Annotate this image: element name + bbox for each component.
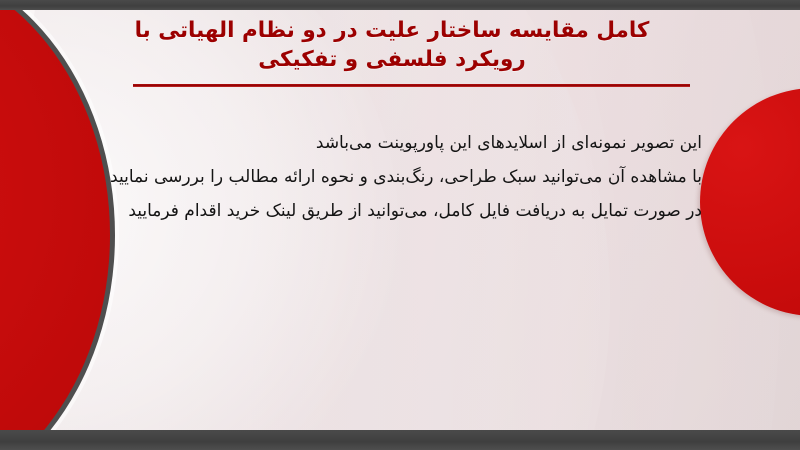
slide-title: کامل مقایسه ساختار علیت در دو نظام الهیا… <box>72 16 712 74</box>
slide-title-line-1: کامل مقایسه ساختار علیت در دو نظام الهیا… <box>72 16 712 45</box>
slide-frame-top <box>0 0 800 10</box>
slide-canvas: کامل مقایسه ساختار علیت در دو نظام الهیا… <box>0 0 800 450</box>
title-underline-rule <box>133 84 690 87</box>
slide-body-line-2: با مشاهده آن می‌توانید سبک طراحی، رنگ‌بن… <box>72 160 702 194</box>
slide-frame-bottom <box>0 430 800 450</box>
slide-body-line-1: این تصویر نمونه‌ای از اسلایدهای این پاور… <box>72 126 702 160</box>
slide-title-line-2: رویکرد فلسفی و تفکیکی <box>72 45 712 74</box>
slide-body-text: این تصویر نمونه‌ای از اسلایدهای این پاور… <box>72 126 702 228</box>
slide-content-panel: کامل مقایسه ساختار علیت در دو نظام الهیا… <box>0 10 800 430</box>
slide-body-line-3: در صورت تمایل به دریافت فایل کامل، می‌تو… <box>72 194 702 228</box>
